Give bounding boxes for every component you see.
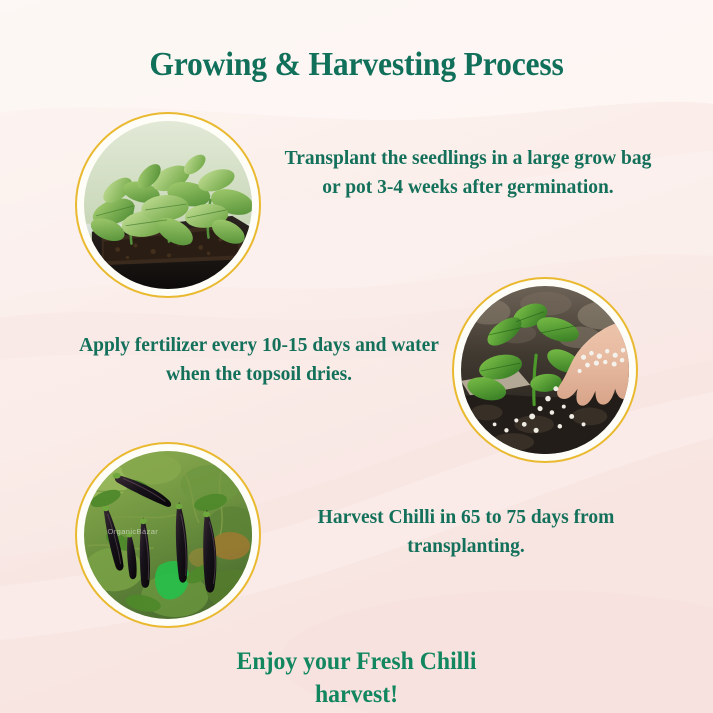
hand-applying-fertilizer-photo bbox=[461, 286, 629, 454]
footer-line-1: Enjoy your Fresh Chilli bbox=[18, 645, 695, 678]
page-title: Growing & Harvesting Process bbox=[25, 46, 688, 84]
dark-chilli-peppers-photo: OrganicBazar bbox=[84, 451, 252, 619]
footer-message: Enjoy your Fresh Chilli harvest! bbox=[18, 645, 695, 711]
seedlings-in-tray-photo bbox=[84, 121, 252, 289]
step-1-caption: Transplant the seedlings in a large grow… bbox=[278, 144, 658, 203]
footer-line-2: harvest! bbox=[18, 678, 695, 711]
step-2-photo-ring bbox=[452, 277, 638, 463]
step-3-photo-ring: OrganicBazar bbox=[75, 442, 261, 628]
step-3-caption: Harvest Chilli in 65 to 75 days from tra… bbox=[276, 503, 656, 562]
step-1-photo-ring bbox=[75, 112, 261, 298]
step-2-caption: Apply fertilizer every 10-15 days and wa… bbox=[55, 331, 464, 390]
infographic-poster: Growing & Harvesting Process bbox=[0, 0, 713, 713]
